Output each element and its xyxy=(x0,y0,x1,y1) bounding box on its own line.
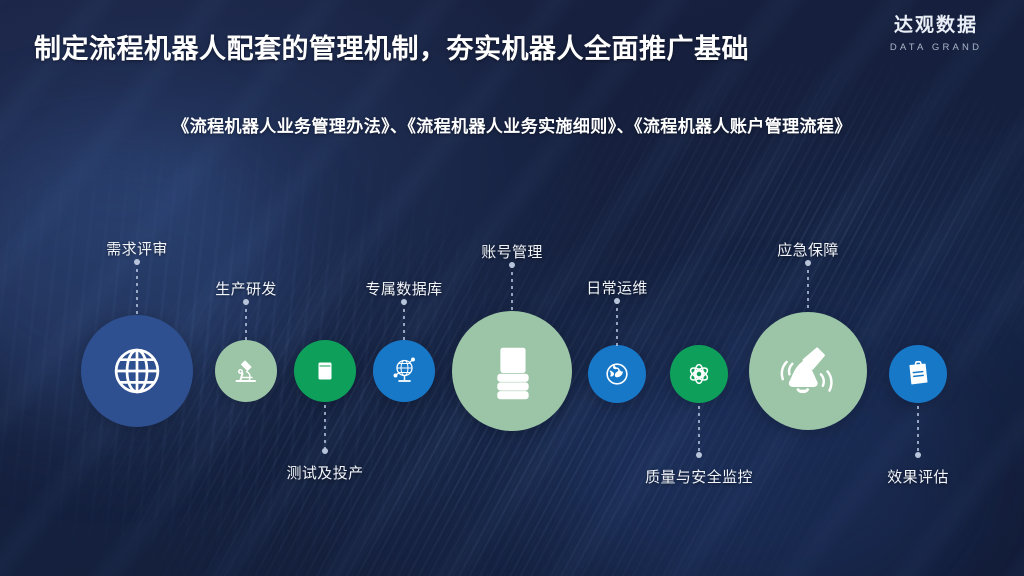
node-connector-line xyxy=(136,262,138,316)
process-node-bubble[interactable] xyxy=(81,315,193,427)
process-node-label: 账号管理 xyxy=(481,241,543,262)
process-node-label: 应急保障 xyxy=(777,239,839,260)
books-stack-icon xyxy=(481,340,543,402)
earth-icon xyxy=(602,359,632,389)
slide-canvas: 制定流程机器人配套的管理机制，夯实机器人全面推广基础 达观数据 DATA GRA… xyxy=(0,0,1024,576)
node-connector-line xyxy=(616,301,618,346)
process-node-bubble[interactable] xyxy=(749,312,867,430)
process-node-label: 质量与安全监控 xyxy=(645,466,753,487)
atom-icon xyxy=(684,359,714,389)
process-node-bubble[interactable] xyxy=(215,340,277,402)
node-connector-line xyxy=(245,302,247,342)
node-connector-line xyxy=(807,263,809,311)
node-connector-line xyxy=(698,406,700,455)
hand-bell-icon xyxy=(778,341,839,402)
process-node-label: 效果评估 xyxy=(887,466,949,487)
globe-grid-icon xyxy=(108,342,166,400)
clipboard-icon xyxy=(903,359,933,389)
process-node-label: 测试及投产 xyxy=(286,462,363,483)
microscope-icon xyxy=(230,355,262,387)
process-node-label: 专属数据库 xyxy=(365,278,442,299)
book-icon xyxy=(309,355,341,387)
node-connector-line xyxy=(403,302,405,342)
node-connector-line xyxy=(917,406,919,455)
process-node-bubble[interactable] xyxy=(452,311,572,431)
process-node-label: 需求评审 xyxy=(106,238,168,259)
process-node-bubble[interactable] xyxy=(889,345,947,403)
process-node-label: 生产研发 xyxy=(215,278,277,299)
globe-stand-icon xyxy=(388,355,420,387)
node-connector-line xyxy=(511,265,513,312)
node-connector-line xyxy=(324,405,326,451)
process-node-bubble[interactable] xyxy=(670,345,728,403)
process-node-row: 需求评审生产研发测试及投产专属数据库账号管理日常运维质量与安全监控应急保障效果评… xyxy=(0,0,1024,576)
process-node-label: 日常运维 xyxy=(586,277,648,298)
process-node-bubble[interactable] xyxy=(373,340,435,402)
process-node-bubble[interactable] xyxy=(588,345,646,403)
process-node-bubble[interactable] xyxy=(294,340,356,402)
